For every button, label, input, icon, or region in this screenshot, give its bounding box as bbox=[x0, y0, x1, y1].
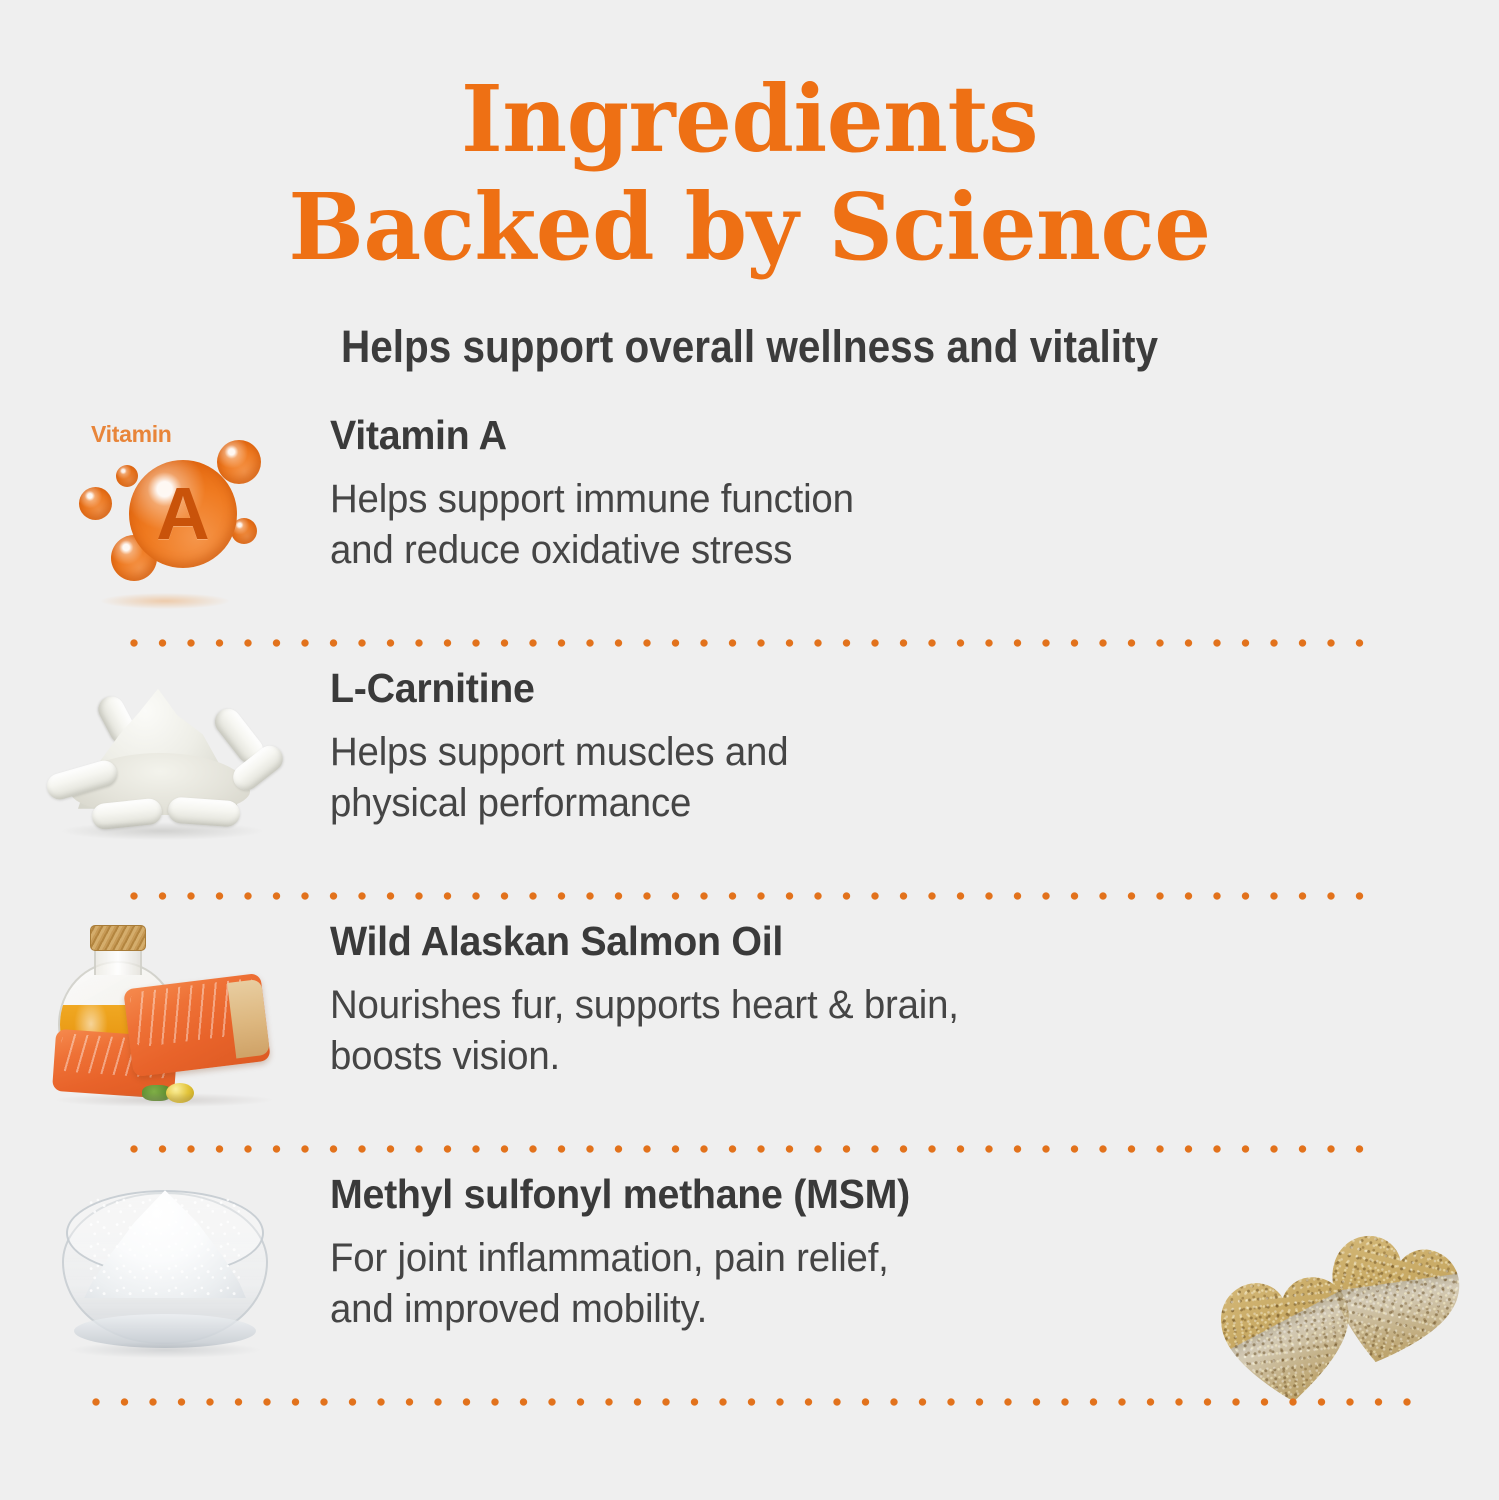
ingredient-row: Wild Alaskan Salmon Oil Nourishes fur, s… bbox=[0, 901, 1499, 1144]
salmon-oil-bottle-image bbox=[36, 921, 294, 1111]
ingredient-text: Vitamin A Helps support immune function … bbox=[330, 395, 1499, 576]
ingredient-description: For joint inflammation, pain relief, and… bbox=[330, 1233, 1395, 1335]
header: Ingredients Backed by Science Helps supp… bbox=[0, 0, 1499, 373]
dotted-divider bbox=[92, 1397, 1427, 1407]
ingredient-row: Methyl sulfonyl methane (MSM) For joint … bbox=[0, 1154, 1499, 1397]
powder-capsules-image bbox=[40, 681, 290, 846]
ingredient-name: L-Carnitine bbox=[330, 664, 1395, 712]
dotted-divider bbox=[130, 638, 1373, 648]
ingredient-text: Methyl sulfonyl methane (MSM) For joint … bbox=[330, 1154, 1499, 1335]
msm-powder-dish-image bbox=[52, 1174, 278, 1364]
glow-shadow bbox=[101, 593, 229, 609]
bubble-icon bbox=[79, 487, 112, 520]
ingredient-thumbnail bbox=[0, 1154, 330, 1384]
ingredient-thumbnail bbox=[0, 901, 330, 1131]
ingredient-text: L-Carnitine Helps support muscles and ph… bbox=[330, 648, 1499, 829]
ingredient-thumbnail bbox=[0, 648, 330, 878]
salmon-fillet bbox=[123, 973, 271, 1077]
vitamin-a-bubble-icon: Vitamin bbox=[65, 415, 265, 605]
dotted-divider bbox=[130, 1144, 1373, 1154]
ingredient-name: Wild Alaskan Salmon Oil bbox=[330, 917, 1395, 965]
ingredient-thumbnail: Vitamin bbox=[0, 395, 330, 625]
page-title: Ingredients Backed by Science bbox=[22, 66, 1476, 281]
ingredient-list: Vitamin Vitamin A Helps support immune f… bbox=[0, 395, 1499, 1407]
ingredient-name: Vitamin A bbox=[330, 411, 1395, 459]
drop-shadow bbox=[56, 1093, 272, 1107]
crystal-sparkles bbox=[88, 1196, 242, 1296]
drop-shadow bbox=[62, 822, 262, 840]
page-subtitle: Helps support overall wellness and vital… bbox=[75, 321, 1424, 373]
vitamin-a-sphere-icon bbox=[129, 460, 237, 568]
ingredient-description: Helps support muscles and physical perfo… bbox=[330, 727, 1395, 829]
ingredient-name: Methyl sulfonyl methane (MSM) bbox=[330, 1170, 1395, 1218]
dotted-divider bbox=[130, 891, 1373, 901]
ingredient-description: Helps support immune function and reduce… bbox=[330, 474, 1395, 576]
ingredient-text: Wild Alaskan Salmon Oil Nourishes fur, s… bbox=[330, 901, 1499, 1082]
drop-shadow bbox=[70, 1342, 260, 1358]
cork-icon bbox=[90, 925, 146, 951]
ingredient-row: L-Carnitine Helps support muscles and ph… bbox=[0, 648, 1499, 891]
ingredient-row: Vitamin Vitamin A Helps support immune f… bbox=[0, 395, 1499, 638]
vitamin-label: Vitamin bbox=[91, 421, 172, 448]
ingredient-description: Nourishes fur, supports heart & brain, b… bbox=[330, 980, 1395, 1082]
